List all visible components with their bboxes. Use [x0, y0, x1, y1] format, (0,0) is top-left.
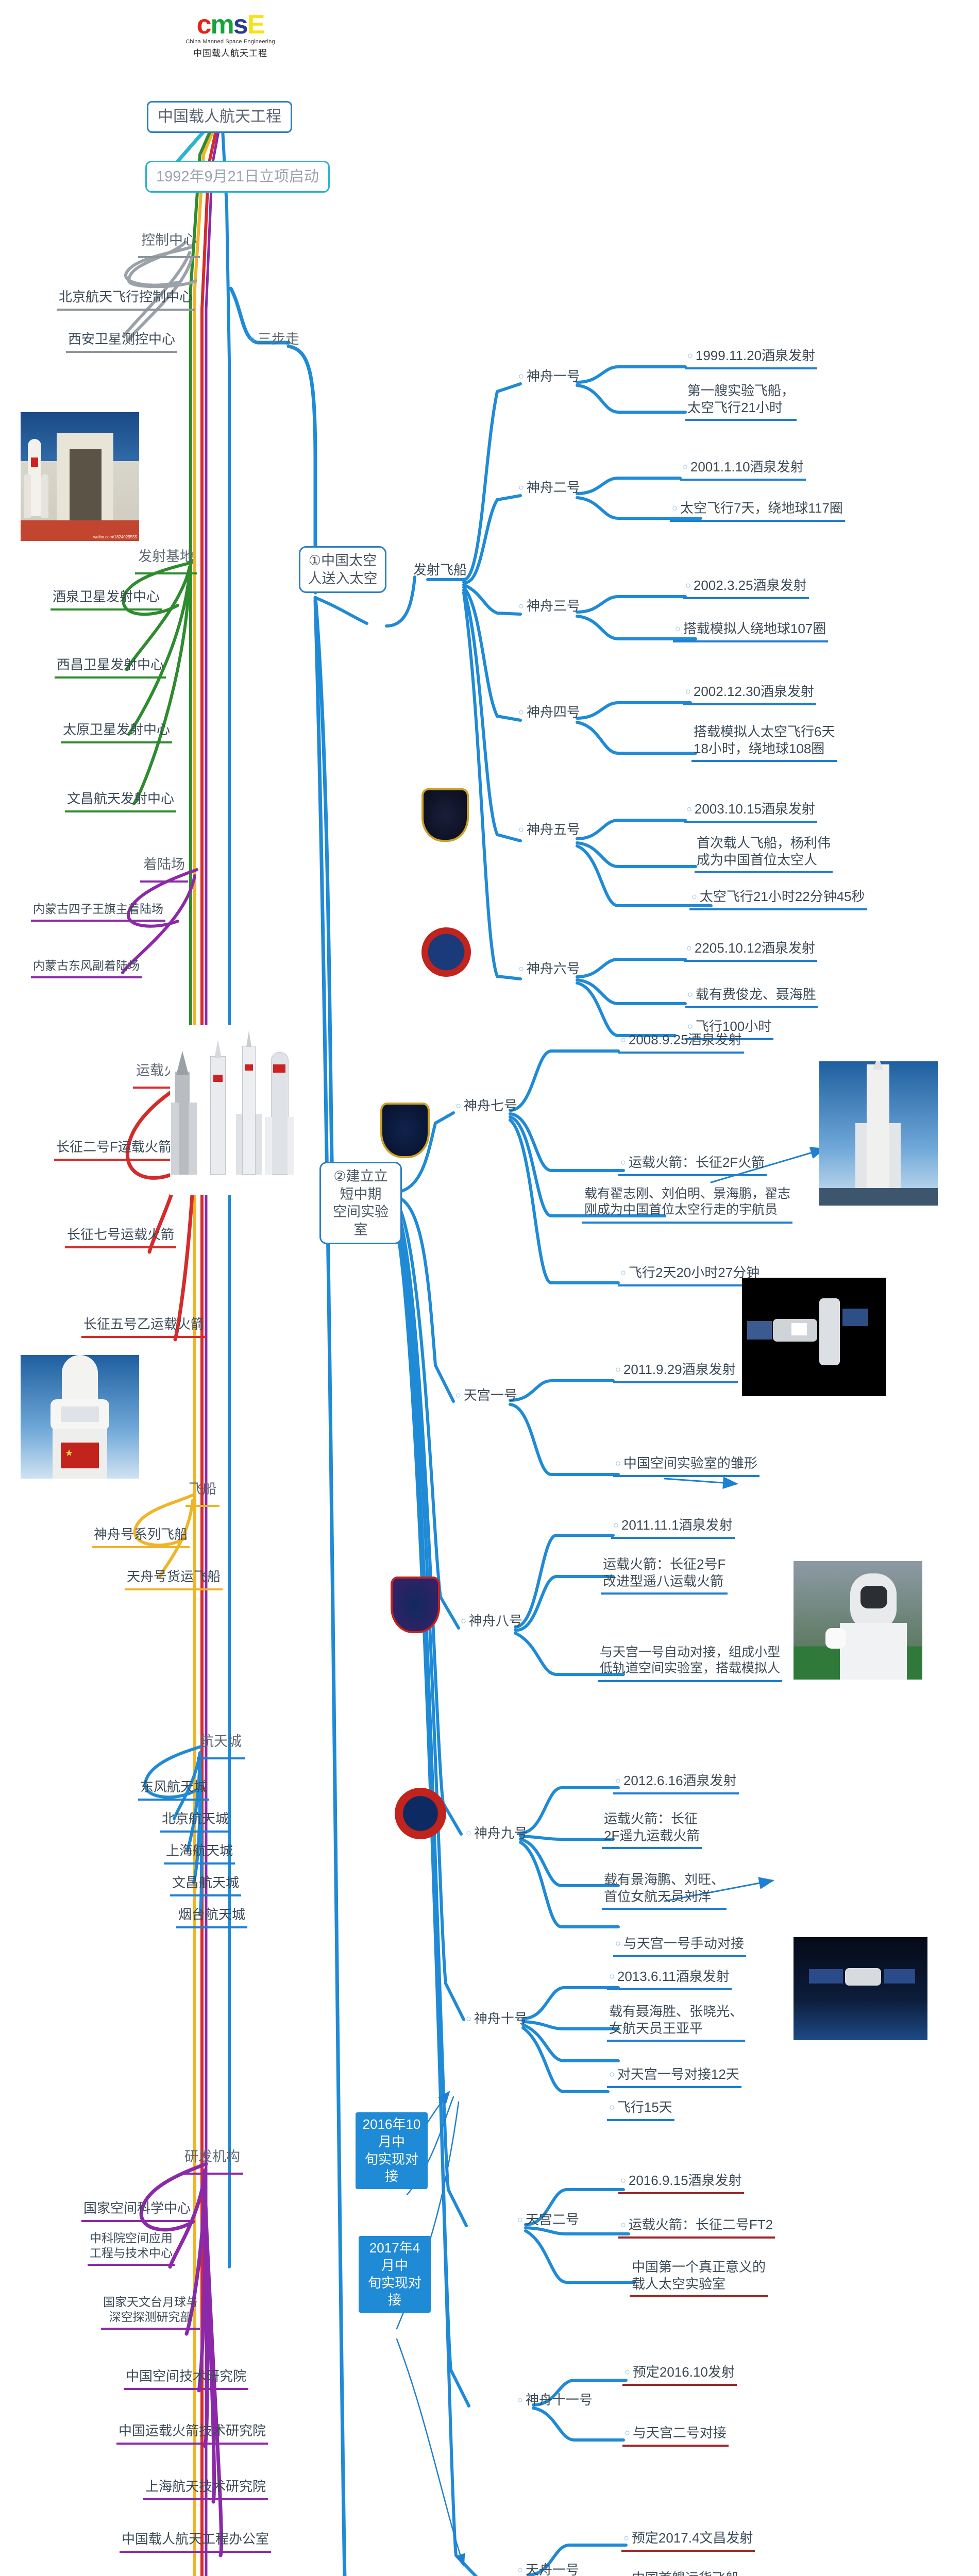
rnd-child-1[interactable]: 中科院空间应用 工程与技术中心 [88, 2230, 175, 2266]
logo-chinese: 中国载人航天工程 [166, 46, 295, 59]
bullet-icon: ○ [609, 2102, 615, 2112]
emblem-shenzhou-5 [421, 788, 469, 842]
bullet-icon: ○ [686, 804, 692, 814]
sz9-fact-0[interactable]: ○2012.6.16酒泉发射 [613, 1771, 739, 1794]
mission-tianzhou-1[interactable]: ○天舟一号 [515, 2561, 581, 2576]
bullet-icon: ○ [686, 943, 692, 953]
sz1-fact-1[interactable]: 第一艘实验飞船， 太空飞行21小时 [685, 381, 797, 421]
sz11-fact-1[interactable]: ○与天宫二号对接 [622, 2424, 729, 2447]
rnd-child-5[interactable]: 上海航天技术研究院 [143, 2477, 268, 2500]
mission-shenzhou-3[interactable]: ○神舟三号 [516, 597, 582, 618]
sz6-fact-1[interactable]: ○载有费俊龙、聂海胜 [685, 985, 818, 1008]
sz7-fact-2[interactable]: 载有翟志刚、刘伯明、景海鹏，翟志 刚成为中国首位太空行走的宇航员 [582, 1185, 792, 1224]
space-city-child-3[interactable]: 文昌航天城 [170, 1873, 241, 1896]
bullet-icon: ○ [620, 1157, 626, 1167]
bullet-icon: ○ [687, 350, 693, 361]
sz9-fact-2[interactable]: 载有景海鹏、刘旺、 首位女航天员刘洋 [602, 1870, 727, 1910]
photo-liuyang: 刘洋 [794, 1561, 922, 1680]
sz7-fact-0[interactable]: ○2008.9.25酒泉发射 [618, 1030, 744, 1054]
bullet-icon: ○ [518, 824, 524, 835]
tz1-fact-0[interactable]: ○预定2017.4文昌发射 [621, 2529, 755, 2552]
bullet-icon: ○ [620, 2175, 626, 2185]
bullet-icon: ○ [609, 2069, 615, 2079]
sz11-fact-0[interactable]: ○预定2016.10发射 [622, 2363, 737, 2386]
bullet-icon: ○ [620, 1267, 626, 1278]
photo-image [742, 1278, 886, 1396]
cmse-logo: cmsE China Manned Space Engineering 中国载人… [166, 11, 295, 59]
bullet-icon: ○ [518, 963, 524, 974]
space-city-child-4[interactable]: 烟台航天城 [176, 1905, 247, 1928]
photo-image: weibo.com/1824029555 [21, 412, 139, 541]
bullet-icon: ○ [517, 2214, 523, 2225]
bullet-icon: ○ [615, 1938, 621, 1948]
mission-shenzhou-7[interactable]: ○神舟七号 [453, 1096, 519, 1117]
sz5-fact-0[interactable]: ○2003.10.15酒泉发射 [684, 800, 817, 823]
bullet-icon: ○ [620, 2219, 626, 2230]
sz8-fact-1[interactable]: 运载火箭：长征2号F 改进型遥八运载火箭 [601, 1555, 728, 1595]
launch-base-child-1[interactable]: 西昌卫星发射中心 [55, 655, 166, 679]
tg1-fact-0[interactable]: ○2011.9.29酒泉发射 [613, 1360, 738, 1383]
sz2-fact-0[interactable]: ○2001.1.10酒泉发射 [680, 457, 806, 481]
bullet-icon: ○ [455, 1100, 461, 1111]
branch-rnd[interactable]: 研发机构 [181, 2147, 243, 2175]
bullet-icon: ○ [624, 2428, 630, 2438]
launch-base-child-3[interactable]: 文昌航天发射中心 [65, 789, 176, 812]
mission-shenzhou-11[interactable]: ○神舟十一号 [515, 2391, 595, 2412]
bullet-icon: ○ [687, 1021, 693, 1031]
sz8-fact-0[interactable]: ○2011.11.1酒泉发射 [611, 1516, 735, 1539]
project-start-node[interactable]: 1992年9月21日立项启动 [145, 161, 330, 193]
rockets-child-0[interactable]: 长征二号F运载火箭 [54, 1138, 174, 1161]
branch-three-steps[interactable]: ○三步走 [246, 330, 302, 355]
bullet-icon: ○ [691, 891, 697, 902]
bullet-icon: ○ [615, 1775, 621, 1786]
space-city-child-2[interactable]: 上海航天城 [164, 1841, 235, 1865]
tg1-fact-1[interactable]: ○中国空间实验室的雏形 [613, 1454, 759, 1477]
sz7-fact-1[interactable]: ○运载火箭：长征2F火箭 [618, 1153, 767, 1176]
bullet-icon: ○ [623, 2573, 629, 2576]
rockets-child-1[interactable]: 长征七号运载火箭 [65, 1225, 176, 1248]
sz3-fact-1[interactable]: ○搭载模拟人绕地球107圈 [673, 619, 828, 642]
tg2-fact-2[interactable]: 中国第一个真正意义的 载人太空实验室 [630, 2258, 768, 2297]
bullet-icon: ○ [613, 1520, 619, 1530]
logo-wordmark: cmsE [166, 11, 295, 38]
photo-image: ★ [21, 1355, 139, 1479]
sz10-fact-2[interactable]: ○对天宫一号对接12天 [607, 2065, 741, 2088]
sz5-fact-2[interactable]: ○太空飞行21小时22分钟45秒 [689, 887, 867, 910]
photo-caption: 中国主要运载火箭 [170, 1195, 294, 1195]
sz4-fact-0[interactable]: ○2002.12.30酒泉发射 [683, 682, 816, 705]
sz9-fact-3[interactable]: ○与天宫一号手动对接 [613, 1934, 746, 1957]
mission-tiangong-2[interactable]: ○天宫二号 [515, 2210, 581, 2231]
bullet-icon: ○ [675, 623, 681, 634]
emblem-shenzhou-7 [380, 1103, 430, 1158]
mission-shenzhou-2[interactable]: ○神舟二号 [516, 478, 582, 499]
mission-shenzhou-6[interactable]: ○神舟六号 [516, 959, 582, 980]
spacecraft-child-1[interactable]: 天舟号货运飞船 [125, 1567, 223, 1590]
rnd-child-3[interactable]: 中国空间技术研究院 [124, 2367, 248, 2390]
bullet-icon: ○ [249, 334, 255, 344]
step-2-node[interactable]: ②建立立短中期 空间实验室 [319, 1162, 402, 1244]
photo-tiangong1: 天宫一号 [742, 1278, 886, 1396]
group-launch-spacecraft[interactable]: 发射飞船 [411, 561, 469, 582]
rnd-child-6[interactable]: 中国载人航天工程办公室 [120, 2530, 271, 2553]
photo-cz2f: 长征2F火箭 [819, 1061, 938, 1206]
rnd-child-2[interactable]: 国家天文台月球与 深空探测研究部 [101, 2294, 200, 2330]
photo-image [794, 1561, 922, 1680]
mission-tiangong-1[interactable]: ○天宫一号 [453, 1386, 519, 1407]
bullet-icon: ○ [620, 1035, 626, 1045]
mission-shenzhou-4[interactable]: ○神舟四号 [516, 703, 582, 724]
space-city-child-0[interactable]: 东风航天城 [138, 1777, 209, 1801]
launch-base-child-2[interactable]: 太原卫星发射中心 [61, 720, 172, 743]
branch-spacecraft[interactable]: 飞船 [185, 1480, 220, 1507]
step-1-node[interactable]: ①中国太空 人送入太空 [299, 546, 386, 593]
mission-shenzhou-5[interactable]: ○神舟五号 [516, 820, 582, 841]
photo-image [170, 1025, 294, 1195]
bullet-icon: ○ [615, 1458, 621, 1468]
branch-launch-base[interactable]: 发射基地 [135, 547, 197, 574]
mission-shenzhou-8[interactable]: ○神舟八号 [459, 1612, 525, 1633]
sz4-fact-1[interactable]: 搭载模拟人太空飞行6天 18小时，绕地球108圈 [691, 722, 837, 762]
logo-english: China Manned Space Engineering [166, 39, 295, 45]
rnd-child-4[interactable]: 中国运载火箭技术研究院 [116, 2421, 268, 2445]
sz3-fact-0[interactable]: ○2002.3.25酒泉发射 [683, 576, 809, 599]
emblem-shenzhou-9 [391, 1577, 440, 1633]
emblem-shenzhou-6 [421, 927, 471, 977]
docking-tag-2016[interactable]: 2016年10月中 旬实现对接 [356, 2112, 428, 2189]
tg2-fact-0[interactable]: ○2016.9.15酒泉发射 [618, 2171, 744, 2194]
bullet-icon: ○ [623, 2533, 629, 2543]
bullet-icon: ○ [687, 989, 693, 999]
bullet-icon: ○ [518, 601, 524, 611]
bullet-icon: ○ [466, 1828, 471, 1838]
bullet-icon: ○ [609, 1971, 615, 1981]
bullet-icon: ○ [518, 707, 524, 717]
bullet-icon: ○ [455, 1390, 461, 1400]
sz2-fact-1[interactable]: ○太空飞行7天，绕地球117圈 [670, 499, 845, 522]
sz8-fact-2[interactable]: 与天宫一号自动对接，组成小型 低轨道空间实验室，搭载模拟人 [598, 1643, 782, 1682]
sz10-fact-0[interactable]: ○2013.6.11酒泉发射 [607, 1967, 732, 1990]
bullet-icon: ○ [466, 2013, 471, 2024]
bullet-icon: ○ [672, 503, 678, 513]
sz10-fact-1[interactable]: 载有聂海胜、张晓光、 女航天员王亚平 [607, 2002, 745, 2042]
photo-image [794, 1937, 927, 2040]
sz1-fact-0[interactable]: ○1999.11.20酒泉发射 [685, 346, 817, 369]
mindmap-canvas: cmsE China Manned Space Engineering 中国载人… [0, 0, 979, 2576]
branch-control-center[interactable]: 控制中心 [138, 231, 200, 258]
branch-space-city[interactable]: 航天城 [197, 1732, 245, 1759]
tz1-fact-1[interactable]: ○中国首艘运货飞船 [621, 2569, 741, 2576]
sz9-fact-1[interactable]: 运载火箭：长征 2F遥九运载火箭 [602, 1809, 702, 1849]
sz6-fact-0[interactable]: ○2205.10.12酒泉发射 [684, 939, 817, 962]
branch-landing-site[interactable]: 着陆场 [140, 855, 188, 883]
photo-image [819, 1061, 938, 1206]
mission-shenzhou-9[interactable]: ○神舟九号 [464, 1824, 530, 1845]
bullet-icon: ○ [518, 482, 524, 493]
photo-tiangong2: 天宫二号 [794, 1937, 927, 2040]
bullet-icon: ○ [517, 2395, 523, 2405]
bullet-icon: ○ [685, 686, 691, 697]
emblem-shenzhou-10 [395, 1788, 446, 1839]
tg2-fact-1[interactable]: ○运载火箭：长征二号FT2 [618, 2215, 775, 2239]
sz7-fact-3[interactable]: ○飞行2天20小时27分钟 [618, 1263, 762, 1286]
sz5-fact-1[interactable]: 首次载人飞船，杨利伟 成为中国首位太空人 [695, 834, 833, 873]
landing-site-child-1[interactable]: 内蒙古东风副着陆场 [31, 957, 142, 978]
bullet-icon: ○ [682, 462, 688, 472]
bullet-icon: ○ [685, 580, 691, 590]
bullet-icon: ○ [615, 1364, 621, 1375]
sz10-fact-3[interactable]: ○飞行15天 [607, 2098, 674, 2121]
photo-jiuquan: weibo.com/1824029555 酒泉发射中心 [21, 412, 139, 541]
bullet-icon: ○ [518, 371, 524, 381]
rockets-child-2[interactable]: 长征五号乙运载火箭 [81, 1315, 206, 1338]
control-center-child-0[interactable]: 北京航天飞行控制中心 [57, 287, 195, 311]
rnd-child-0[interactable]: 国家空间科学中心 [81, 2199, 193, 2222]
bullet-icon: ○ [624, 2367, 630, 2377]
launch-base-child-0[interactable]: 酒泉卫星发射中心 [50, 587, 162, 611]
photo-rocket-family: 中国主要运载火箭 [170, 1025, 294, 1195]
docking-tag-2017[interactable]: 2017年4月中 旬实现对接 [359, 2236, 431, 2313]
mission-shenzhou-10[interactable]: ○神舟十号 [464, 2009, 530, 2030]
space-city-child-1[interactable]: 北京航天城 [160, 1809, 231, 1833]
bullet-icon: ○ [461, 1616, 466, 1626]
root-node[interactable]: 中国载人航天工程 [147, 101, 292, 133]
photo-shenzhou-series: ★ 神舟系列飞船 [21, 1355, 139, 1479]
spacecraft-child-0[interactable]: 神舟号系列飞船 [92, 1525, 190, 1548]
landing-site-child-0[interactable]: 内蒙古四子王旗主着陆场 [31, 901, 165, 922]
bullet-icon: ○ [517, 2565, 523, 2575]
mission-shenzhou-1[interactable]: ○神舟一号 [516, 367, 582, 388]
control-center-child-1[interactable]: 西安卫星测控中心 [66, 330, 177, 353]
